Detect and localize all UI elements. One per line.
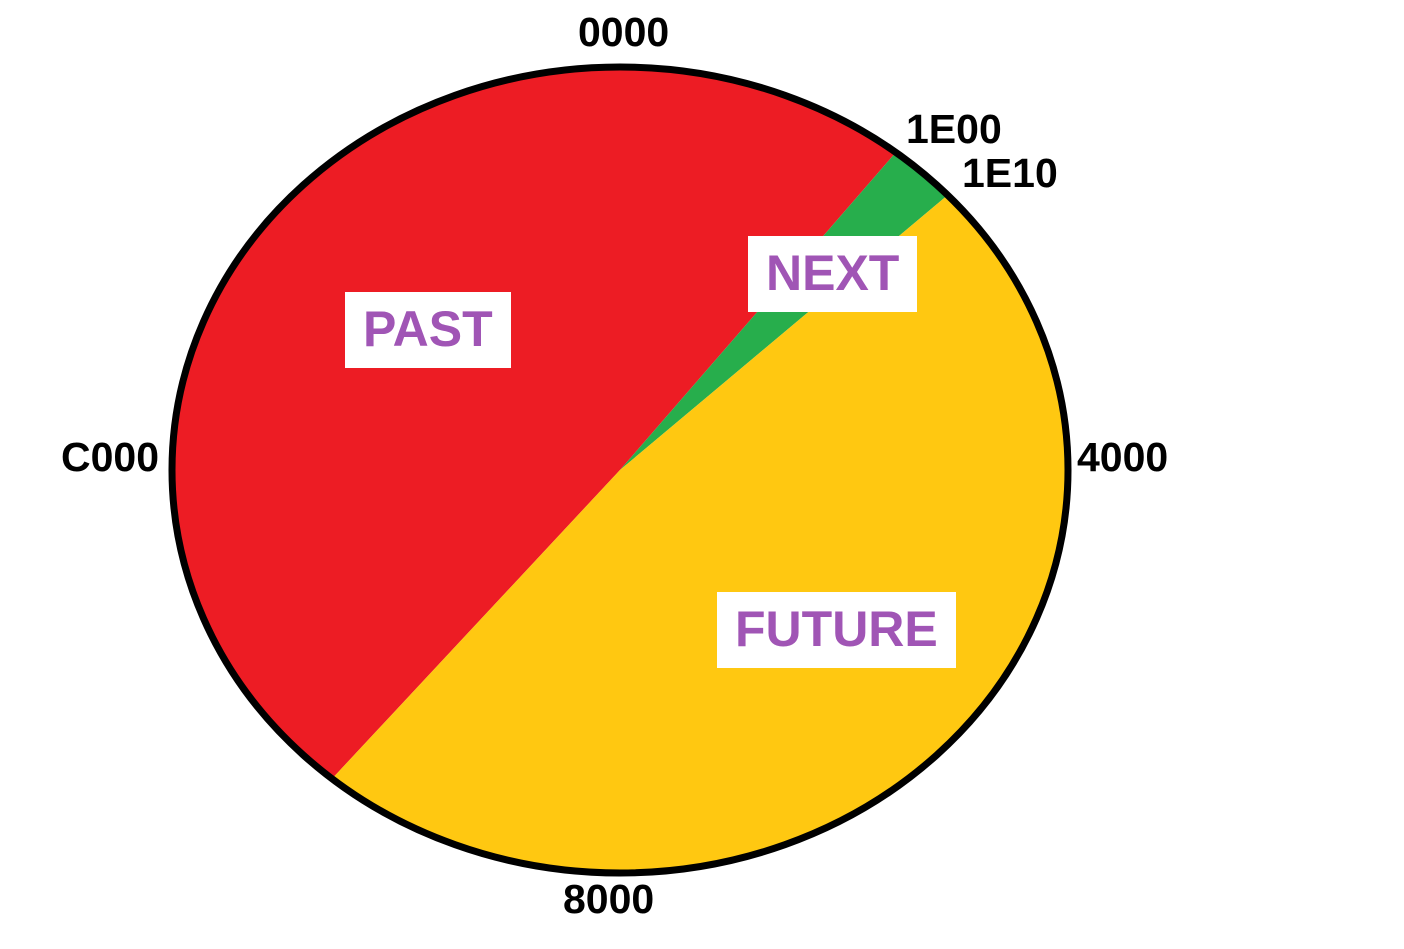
pie-wedges	[172, 67, 1068, 873]
tick-label-1e10: 1E10	[962, 153, 1058, 194]
tick-label-0000: 0000	[578, 12, 669, 53]
pie-chart-canvas	[0, 0, 1404, 949]
region-label-next: NEXT	[748, 236, 917, 312]
region-label-past: PAST	[345, 292, 511, 368]
time-wheel-figure: 0000 1E00 1E10 4000 8000 C000 PAST NEXT …	[0, 0, 1404, 949]
tick-label-8000: 8000	[563, 879, 654, 920]
tick-label-4000: 4000	[1077, 437, 1168, 478]
region-label-future: FUTURE	[717, 592, 956, 668]
tick-label-c000: C000	[61, 437, 159, 478]
tick-label-1e00: 1E00	[906, 109, 1002, 150]
